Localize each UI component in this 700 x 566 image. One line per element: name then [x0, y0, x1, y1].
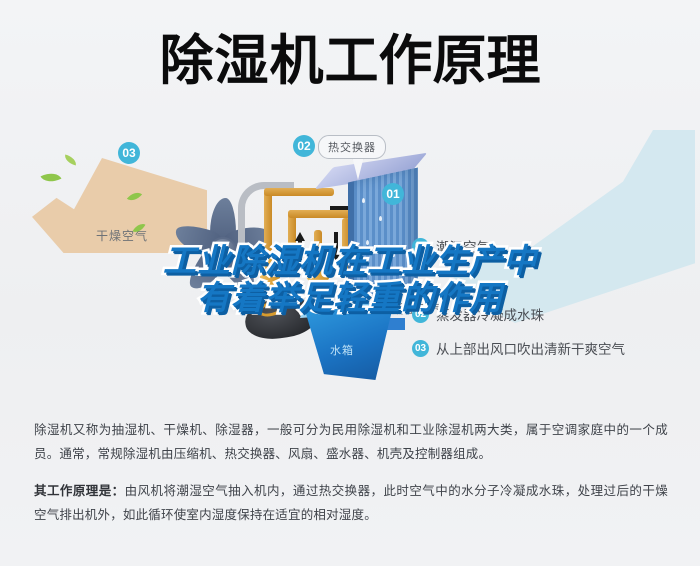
step-marker-01: 01	[412, 238, 429, 255]
dehumidifier-diagram: 干燥空气 潮湿空气	[0, 120, 700, 410]
step-marker-03: 03	[412, 340, 429, 357]
water-droplet-icon	[355, 266, 358, 271]
water-droplet-icon	[362, 198, 365, 203]
article-page: 除湿机工作原理 干燥空气 潮湿空气	[0, 0, 700, 566]
flow-arrow-stem	[334, 232, 338, 254]
body-paragraph-2-lead: 其工作原理是：	[34, 484, 125, 498]
compressor-cylinder	[306, 252, 330, 284]
flow-arrow-down-icon	[331, 252, 341, 261]
flow-arrow-up-icon	[295, 232, 305, 241]
marker-03: 03	[118, 142, 140, 164]
page-title-sub: 工作原理	[325, 31, 541, 91]
leaf-icon	[41, 169, 62, 187]
leaf-icon	[63, 154, 78, 165]
copper-pipe	[288, 210, 352, 218]
step-text-02: 蒸发器冷凝成水珠	[436, 304, 544, 324]
page-title: 除湿机工作原理	[160, 34, 541, 88]
body-paragraph-1: 除湿机又称为抽湿机、干燥机、除湿器，一般可分为民用除湿机和工业除湿机两大类，属于…	[34, 418, 668, 467]
article-body: 除湿机又称为抽湿机、干燥机、除湿器，一般可分为民用除湿机和工业除湿机两大类，属于…	[34, 418, 668, 528]
step-marker-02: 02	[412, 306, 429, 323]
marker-02: 02	[293, 135, 315, 157]
fan-hub	[209, 237, 237, 265]
diagram-step-01: 01 潮湿空气	[412, 236, 490, 256]
page-title-band: 除湿机工作原理	[0, 20, 700, 102]
compressor-cylinder	[260, 254, 280, 288]
water-tank-label: 水箱	[330, 342, 354, 358]
page-title-main: 除湿机	[160, 31, 325, 91]
flow-arrow-stem	[298, 240, 302, 262]
step-text-01: 潮湿空气	[436, 236, 490, 256]
heat-exchanger-callout: 热交换器	[318, 135, 386, 159]
copper-pipe	[288, 210, 296, 276]
diagram-step-02: 02 蒸发器冷凝成水珠	[412, 304, 544, 324]
water-droplet-icon	[366, 240, 369, 245]
marker-01: 01	[382, 183, 404, 205]
body-paragraph-2-rest: 由风机将潮湿空气抽入机内，通过热交换器，此时空气中的水分子冷凝成水珠，处理过后的…	[34, 484, 668, 522]
water-droplet-icon	[379, 216, 382, 221]
water-droplet-icon	[392, 252, 395, 257]
body-paragraph-2: 其工作原理是：由风机将潮湿空气抽入机内，通过热交换器，此时空气中的水分子冷凝成水…	[34, 479, 668, 528]
copper-pipe	[264, 188, 334, 196]
step-text-03: 从上部出风口吹出清新干爽空气	[436, 338, 625, 358]
diagram-step-03: 03 从上部出风口吹出清新干爽空气	[412, 338, 625, 358]
